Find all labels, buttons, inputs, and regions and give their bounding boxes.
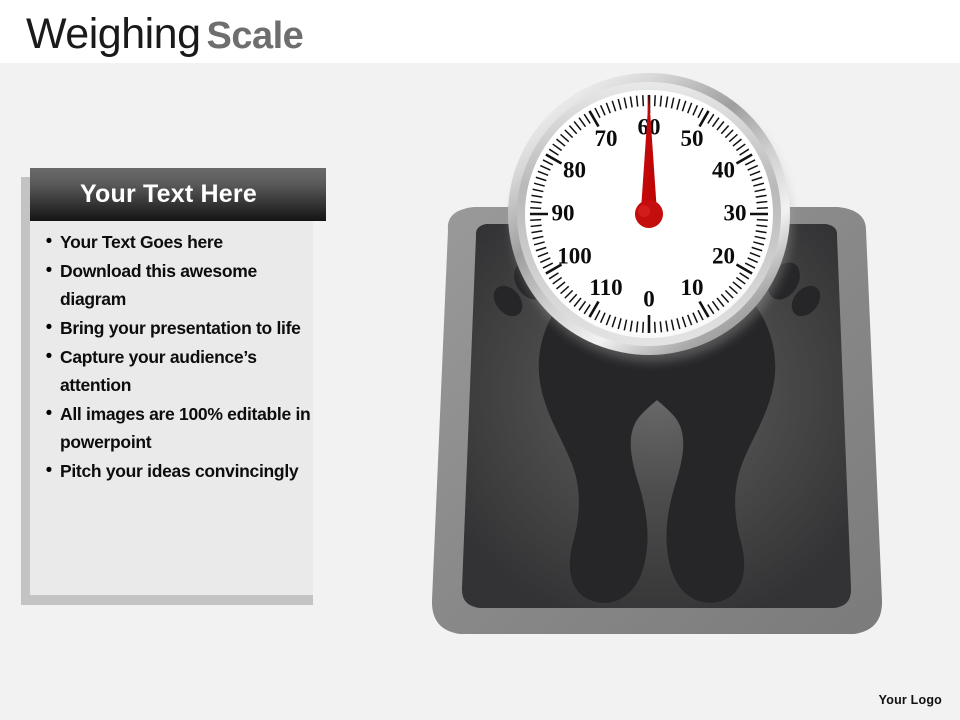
bullet-icon: • (38, 457, 60, 485)
list-item: • Pitch your ideas convincingly (38, 457, 318, 485)
weighing-scale-illustration: 0102030405060708090100110 (430, 60, 900, 660)
text-panel-header-label: Your Text Here (80, 180, 257, 209)
dial-number-30: 30 (724, 200, 747, 225)
page-title-primary: Weighing (26, 10, 201, 58)
dial-number-40: 40 (712, 157, 735, 182)
dial-number-10: 10 (681, 275, 704, 300)
bullet-icon: • (38, 228, 60, 256)
list-item-label: Capture your audience’s attention (60, 343, 318, 399)
page-title-secondary: Scale (207, 15, 304, 57)
bullet-icon: • (38, 314, 60, 342)
list-item: • Download this awesome diagram (38, 257, 318, 313)
page-title: WeighingScale (26, 10, 303, 60)
text-panel-header: Your Text Here (30, 168, 326, 221)
bullet-icon: • (38, 400, 60, 428)
dial-number-70: 70 (595, 126, 618, 151)
dial-number-80: 80 (563, 157, 586, 182)
dial-number-0: 0 (643, 286, 655, 311)
list-item: • Your Text Goes here (38, 228, 318, 256)
list-item-label: Download this awesome diagram (60, 257, 318, 313)
footer-logo: Your Logo (879, 693, 942, 707)
list-item: • Bring your presentation to life (38, 314, 318, 342)
bullet-icon: • (38, 257, 60, 285)
slide-canvas: WeighingScale Your Text Here • Your Text… (0, 0, 960, 720)
list-item-label: All images are 100% editable in powerpoi… (60, 400, 318, 456)
list-item: • Capture your audience’s attention (38, 343, 318, 399)
dial-number-100: 100 (557, 243, 592, 268)
list-item-label: Pitch your ideas convincingly (60, 457, 298, 485)
list-item-label: Bring your presentation to life (60, 314, 301, 342)
bullet-list: • Your Text Goes here • Download this aw… (38, 228, 318, 486)
dial-number-20: 20 (712, 243, 735, 268)
dial-number-110: 110 (589, 275, 622, 300)
bullet-icon: • (38, 343, 60, 371)
list-item-label: Your Text Goes here (60, 228, 223, 256)
dial-number-90: 90 (552, 200, 575, 225)
list-item: • All images are 100% editable in powerp… (38, 400, 318, 456)
dial-number-50: 50 (681, 126, 704, 151)
